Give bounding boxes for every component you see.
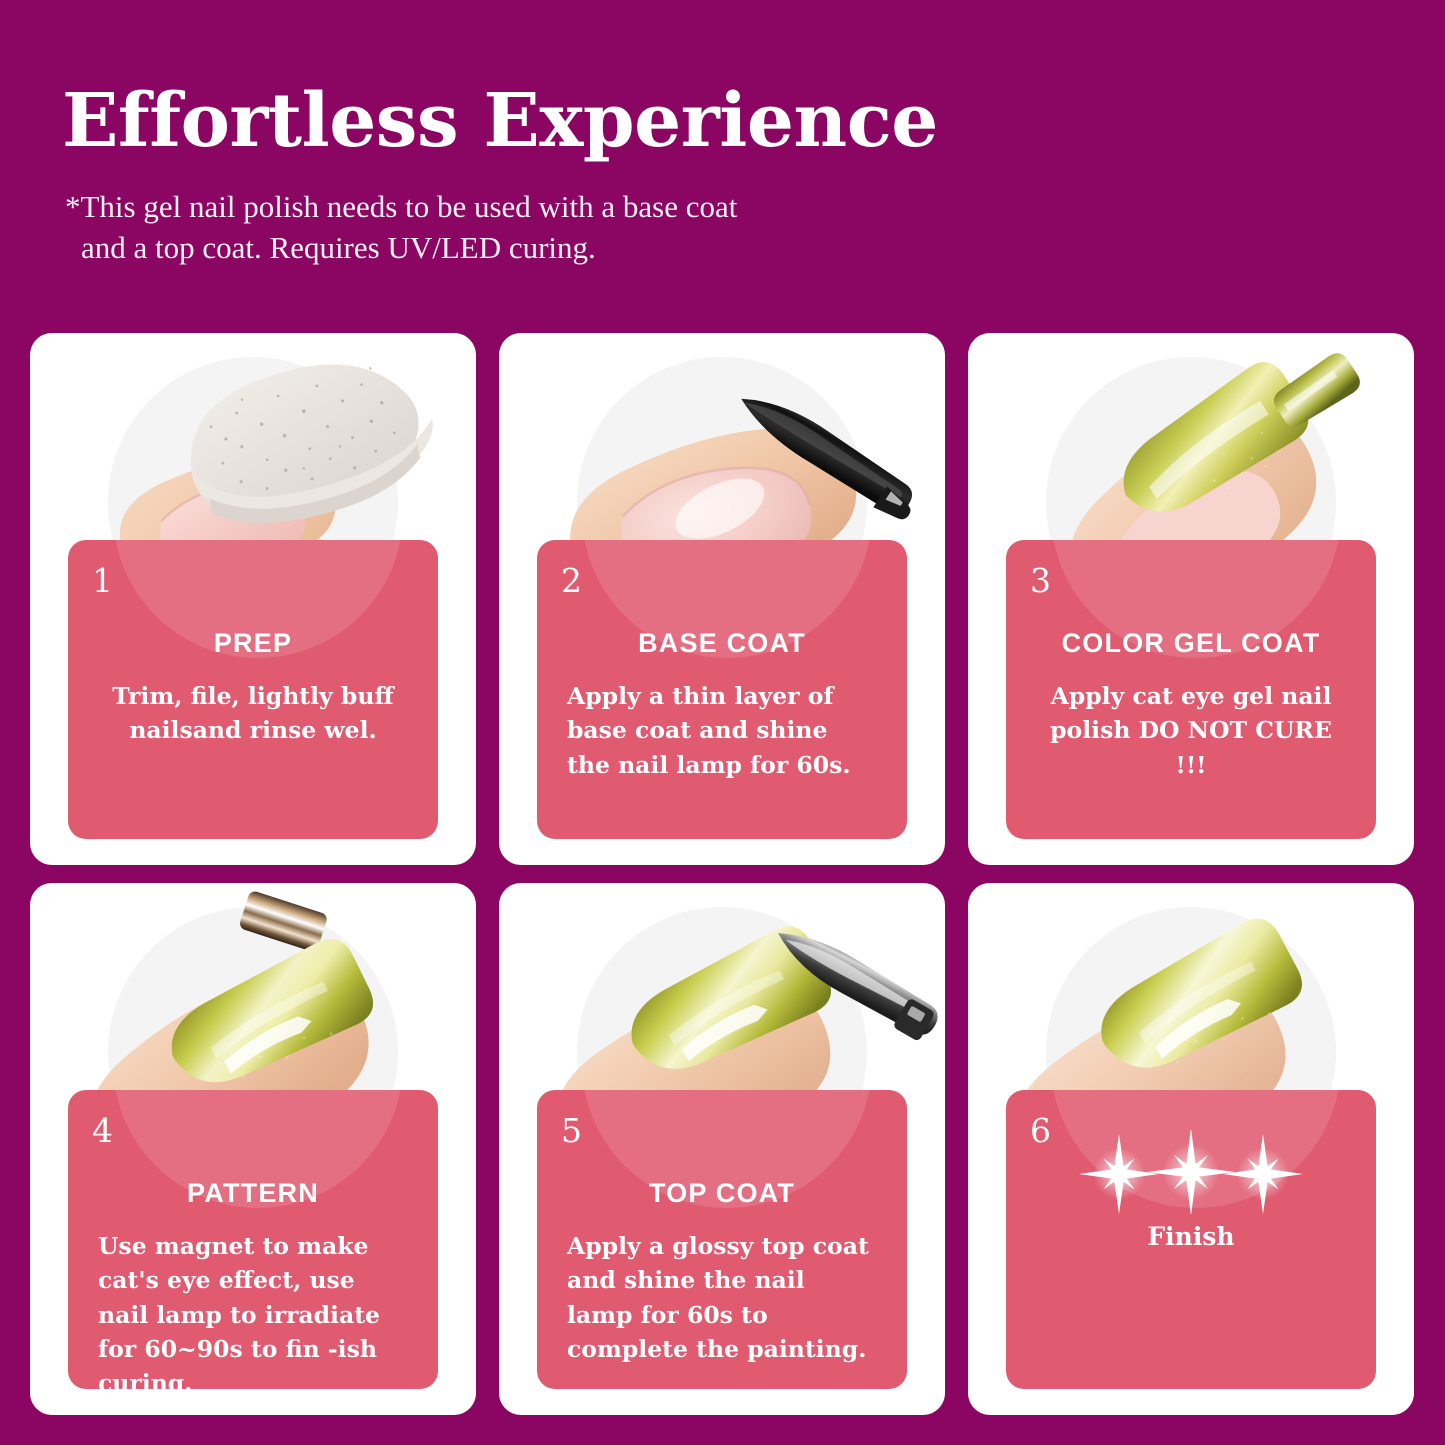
step-description-1: Trim, file, lightly buff nailsand rinse … [94, 679, 412, 748]
step-number-4: 4 [92, 1114, 113, 1147]
step-number-5: 5 [561, 1114, 582, 1147]
sparkle-group [1032, 1130, 1350, 1214]
page-title: Effortless Experience [62, 84, 1162, 158]
step-number-2: 2 [561, 564, 582, 597]
step-number-1: 1 [92, 564, 113, 597]
step-description-2: Apply a thin layer of base coat and shin… [563, 679, 881, 782]
finish-label: Finish [1032, 1222, 1350, 1251]
step-description-4: Use magnet to make cat's eye effect, use… [94, 1229, 412, 1389]
header-note: *This gel nail polish needs to be used w… [65, 186, 1162, 268]
header-note-line1: *This gel nail polish needs to be used w… [65, 189, 737, 224]
step-title-3: COLOR GEL COAT [1032, 628, 1350, 659]
steps-grid: 1 PREP Trim, file, lightly buff nailsand… [30, 333, 1415, 1415]
step-card-1: 1 PREP Trim, file, lightly buff nailsand… [30, 333, 476, 865]
step-panel-3: 3 COLOR GEL COAT Apply cat eye gel nail … [1006, 540, 1376, 839]
step-number-3: 3 [1030, 564, 1051, 597]
step-card-3: 3 COLOR GEL COAT Apply cat eye gel nail … [968, 333, 1414, 865]
step-title-4: PATTERN [94, 1178, 412, 1209]
step-card-4: 4 PATTERN Use magnet to make cat's eye e… [30, 883, 476, 1415]
step-panel-6: 6 [1006, 1090, 1376, 1389]
step-title-1: PREP [94, 628, 412, 659]
step-title-2: BASE COAT [563, 628, 881, 659]
header-note-line2: and a top coat. Requires UV/LED curing. [81, 227, 1162, 268]
step-panel-5: 5 TOP COAT Apply a glossy top coat and s… [537, 1090, 907, 1389]
step-card-6: 6 [968, 883, 1414, 1415]
step-description-5: Apply a glossy top coat and shine the na… [563, 1229, 881, 1366]
header: Effortless Experience *This gel nail pol… [62, 84, 1162, 268]
step-panel-1: 1 PREP Trim, file, lightly buff nailsand… [68, 540, 438, 839]
sparkle-icon [1071, 1130, 1311, 1214]
step-panel-2: 2 BASE COAT Apply a thin layer of base c… [537, 540, 907, 839]
step-card-5: 5 TOP COAT Apply a glossy top coat and s… [499, 883, 945, 1415]
step-card-2: 2 BASE COAT Apply a thin layer of base c… [499, 333, 945, 865]
step-title-5: TOP COAT [563, 1178, 881, 1209]
step-description-3: Apply cat eye gel nail polish DO NOT CUR… [1032, 679, 1350, 782]
step-panel-4: 4 PATTERN Use magnet to make cat's eye e… [68, 1090, 438, 1389]
